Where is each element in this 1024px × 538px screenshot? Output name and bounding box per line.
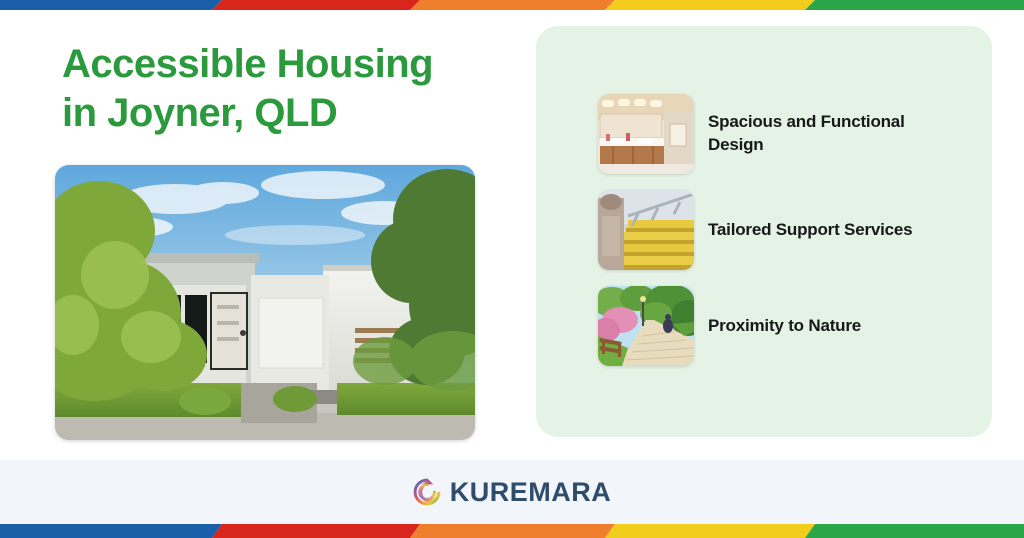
top-color-stripe (0, 0, 1024, 10)
feature-item-spacious-design[interactable]: Spacious and Functional Design (598, 94, 968, 174)
feature-label: Spacious and Functional Design (708, 111, 928, 157)
bottom-color-stripe (0, 524, 1024, 538)
page-title: Accessible Housing in Joyner, QLD (62, 40, 502, 138)
left-column: Accessible Housing in Joyner, QLD (0, 10, 512, 460)
stripe-segment-yellow (605, 0, 815, 10)
stripe-segment-yellow (605, 524, 815, 538)
stripe-segment-blue (0, 0, 222, 10)
kuremara-swirl-logo-icon (413, 478, 441, 506)
stripe-segment-orange (410, 0, 615, 10)
feature-item-tailored-support[interactable]: Tailored Support Services (598, 190, 968, 270)
feature-thumbnail-park-path (598, 286, 694, 366)
page-title-line-2: in Joyner, QLD (62, 91, 337, 135)
feature-label: Proximity to Nature (708, 315, 861, 338)
stripe-segment-green (805, 0, 1024, 10)
features-panel: Spacious and Functional Design (536, 26, 992, 437)
hero-house-photo (55, 165, 475, 440)
stripe-segment-orange (410, 524, 615, 538)
feature-item-proximity-nature[interactable]: Proximity to Nature (598, 286, 968, 366)
brand-name: KUREMARA (450, 477, 612, 508)
stripe-segment-blue (0, 524, 222, 538)
content-stage: Accessible Housing in Joyner, QLD (0, 10, 1024, 460)
stripe-segment-red (212, 524, 420, 538)
stripe-segment-red (212, 0, 420, 10)
stripe-segment-green (805, 524, 1024, 538)
feature-label: Tailored Support Services (708, 219, 912, 242)
feature-thumbnail-stairs (598, 190, 694, 270)
page-title-line-1: Accessible Housing (62, 42, 433, 86)
footer-bar: KUREMARA (0, 460, 1024, 524)
feature-thumbnail-bathroom (598, 94, 694, 174)
features-list: Spacious and Functional Design (598, 94, 968, 366)
